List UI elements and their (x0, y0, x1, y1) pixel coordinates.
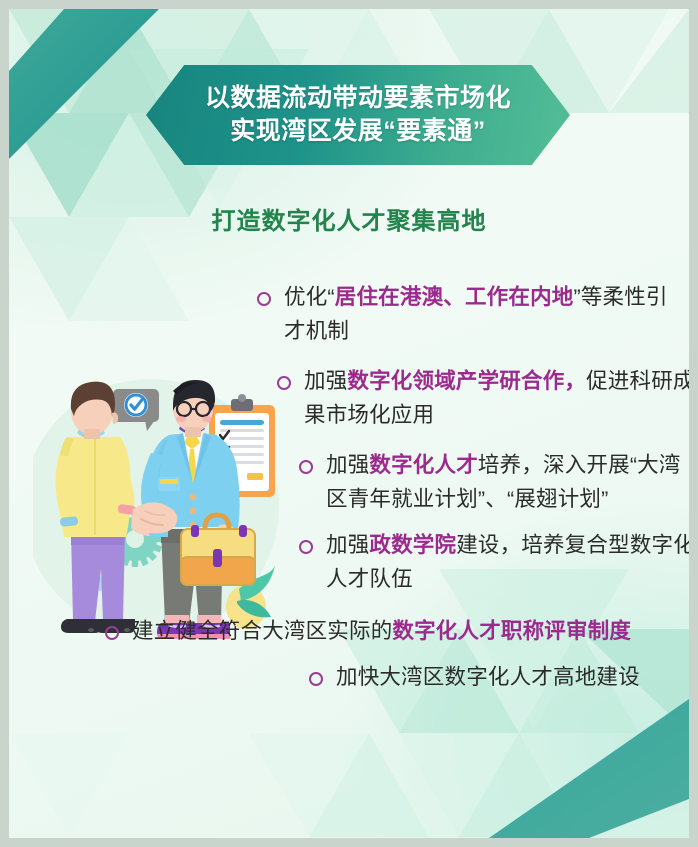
list-item: 加快大湾区数字化人才高地建设 (9, 661, 698, 695)
infographic-poster: 以数据流动带动要素市场化 实现湾区发展“要素通” 打造数字化人才聚集高地 (0, 0, 698, 847)
bullet-segment: 加快大湾区数字化人才高地建设 (336, 665, 640, 689)
list-item: 加强政数学院建设，培养复合型数字化人才队伍 (9, 529, 698, 597)
bullet-marker-icon (299, 460, 313, 474)
bullet-marker-icon (257, 292, 271, 306)
banner-title-line-1: 以数据流动带动要素市场化 (205, 82, 511, 115)
list-item: 加强数字化人才培养，深入开展“大湾区青年就业计划”、“展翅计划” (9, 449, 698, 517)
bullet-segment: 建立健全符合大湾区实际的 (132, 619, 392, 643)
bullet-highlight: 数字化领域产学研合作， (347, 369, 586, 393)
bullet-text-5: 建立健全符合大湾区实际的数字化人才职称评审制度 (132, 615, 698, 649)
bullet-marker-icon (105, 626, 119, 640)
list-item: 加强数字化领域产学研合作，促进科研成果市场化应用 (9, 365, 698, 433)
bullet-text-1: 优化“居住在港澳、工作在内地”等柔性引才机制 (284, 281, 686, 349)
bullet-highlight: 居住在港澳、工作在内地 (335, 285, 574, 309)
bullet-segment: 优化“ (284, 285, 335, 309)
section-subtitle: 打造数字化人才聚集高地 (9, 201, 689, 236)
bullet-text-4: 加强政数学院建设，培养复合型数字化人才队伍 (326, 529, 698, 597)
bullet-text-2: 加强数字化领域产学研合作，促进科研成果市场化应用 (304, 365, 697, 433)
banner-title-line-2: 实现湾区发展“要素通” (230, 115, 486, 148)
title-banner: 以数据流动带动要素市场化 实现湾区发展“要素通” (146, 65, 570, 165)
bullet-segment: 加强 (326, 533, 369, 557)
bullet-text-3: 加强数字化人才培养，深入开展“大湾区青年就业计划”、“展翅计划” (326, 449, 698, 517)
bullet-marker-icon (309, 672, 323, 686)
list-item: 建立健全符合大湾区实际的数字化人才职称评审制度 (9, 615, 698, 649)
list-item: 优化“居住在港澳、工作在内地”等柔性引才机制 (9, 281, 698, 349)
bullet-highlight: 数字化人才 (369, 453, 478, 477)
bullet-highlight: 政数学院 (369, 533, 456, 557)
bullet-text-6: 加快大湾区数字化人才高地建设 (336, 661, 698, 695)
bullet-segment: 加强 (326, 453, 369, 477)
bullet-list: 优化“居住在港澳、工作在内地”等柔性引才机制 加强数字化领域产学研合作，促进科研… (9, 281, 698, 695)
bullet-marker-icon (277, 376, 291, 390)
bullet-segment: 加强 (304, 369, 347, 393)
bullet-marker-icon (299, 540, 313, 554)
bullet-highlight: 数字化人才职称评审制度 (392, 619, 631, 643)
